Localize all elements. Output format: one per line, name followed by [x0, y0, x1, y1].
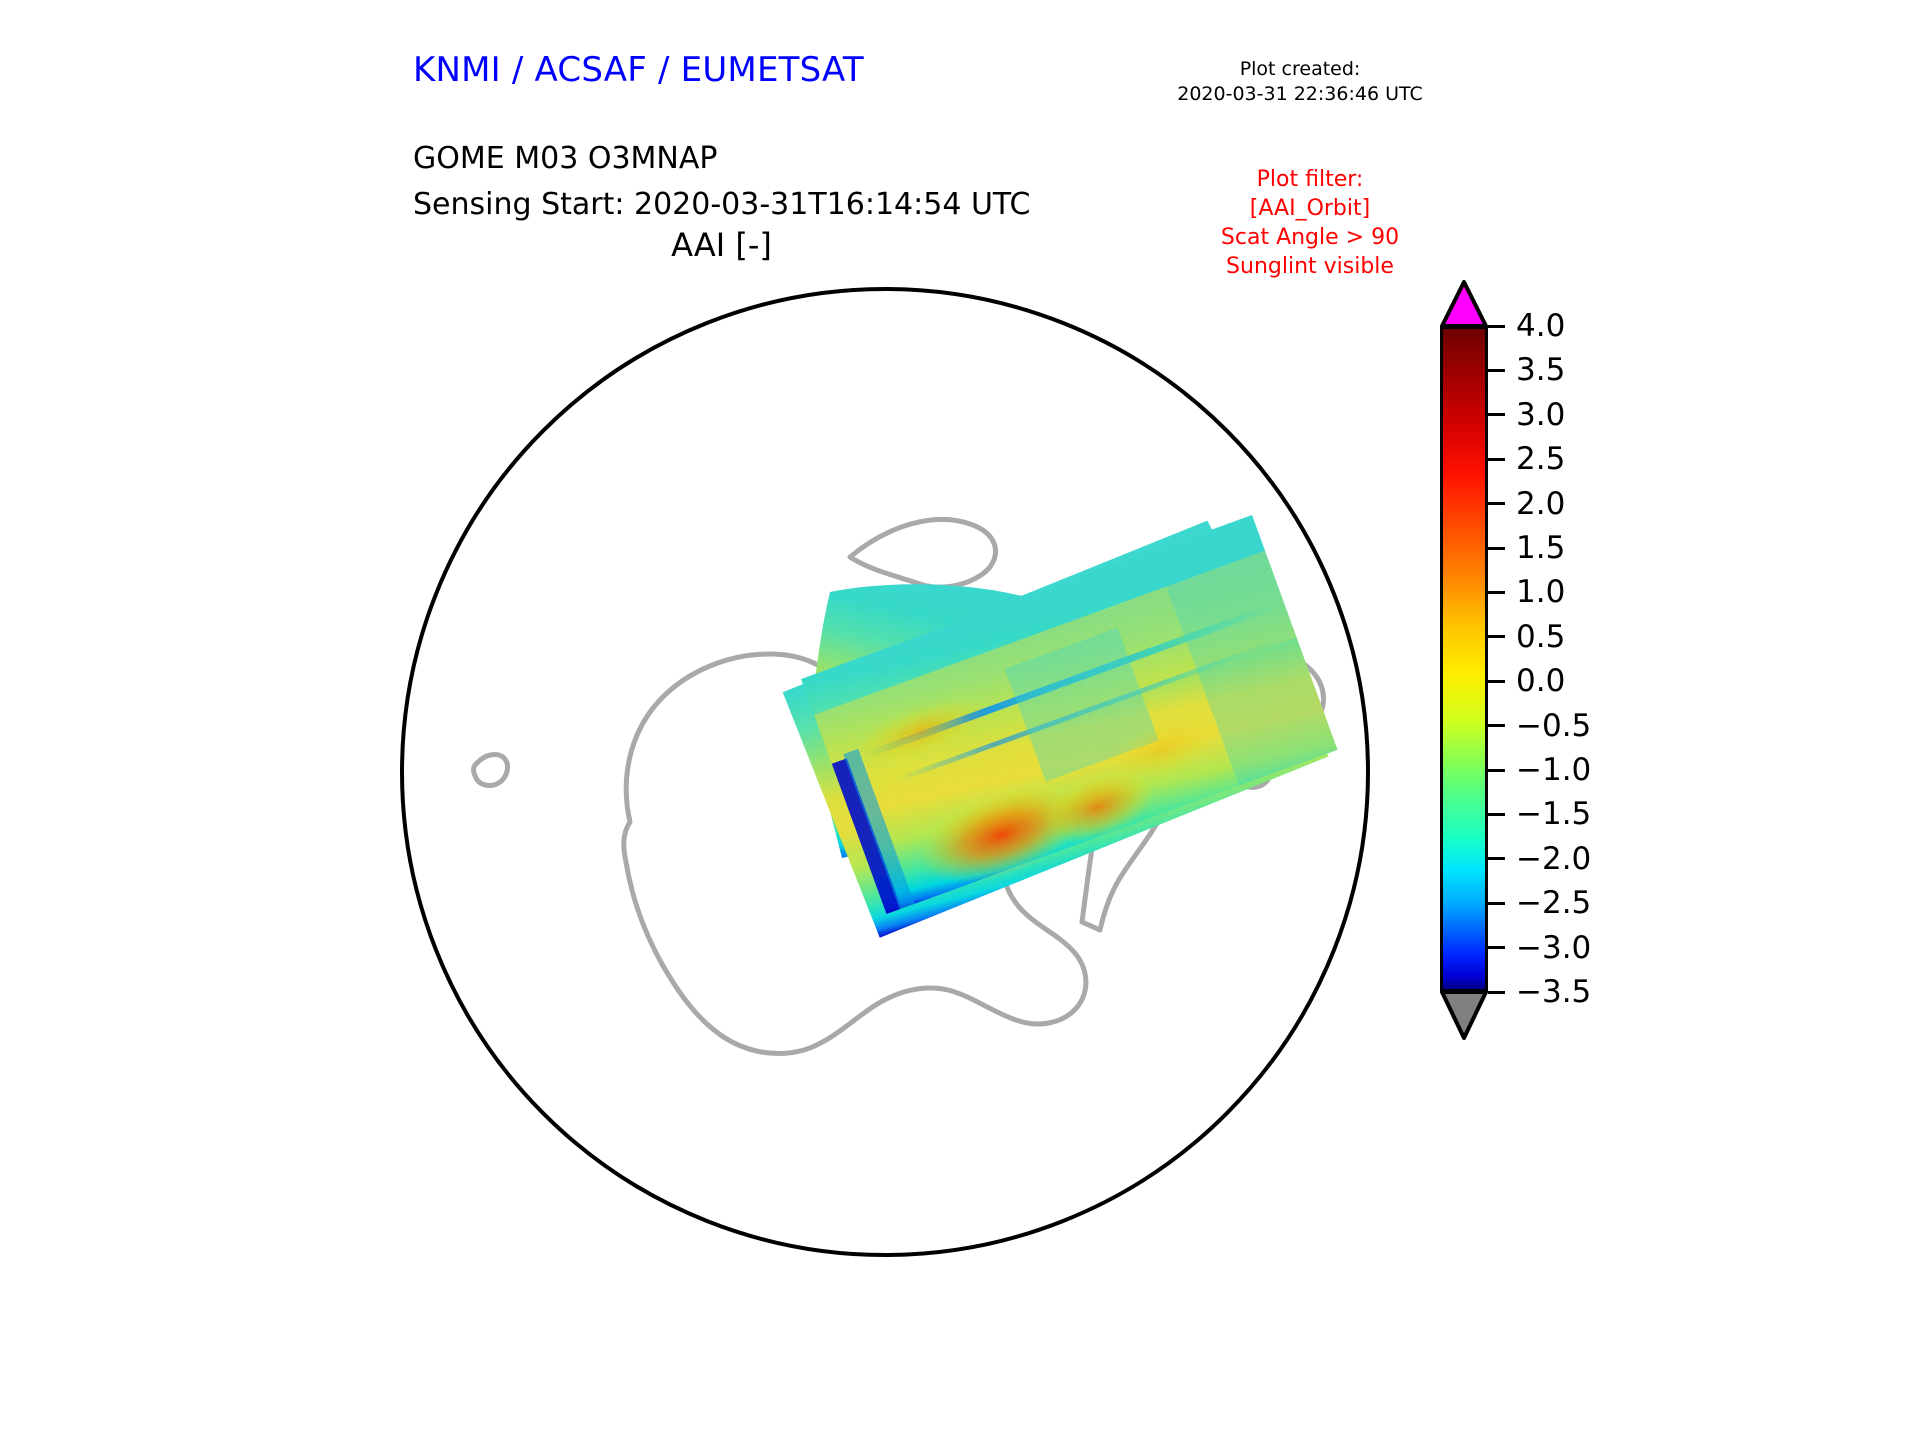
plot-created-timestamp: 2020-03-31 22:36:46 UTC [1150, 82, 1450, 107]
organisation-title: KNMI / ACSAF / EUMETSAT [413, 50, 864, 90]
polar-map [330, 262, 1350, 1282]
colorbar-tick-mark [1488, 946, 1505, 949]
colorbar-tick-mark [1488, 857, 1505, 860]
colorbar-tick-label: 2.0 [1516, 486, 1565, 522]
colorbar-tick-mark [1488, 325, 1505, 328]
instrument-product-line: GOME M03 O3MNAP [413, 136, 1030, 182]
sensing-start-line: Sensing Start: 2020-03-31T16:14:54 UTC [413, 182, 1030, 228]
island-small-left [474, 755, 508, 786]
colorbar-tick-label: 2.5 [1516, 441, 1565, 477]
colorbar-tick-mark [1488, 458, 1505, 461]
colorbar-tick-mark [1488, 547, 1505, 550]
colorbar-tick-mark [1488, 369, 1505, 372]
map-contents [474, 512, 1340, 1054]
colorbar-tick-label: −2.0 [1516, 841, 1591, 877]
colorbar-tick-label: −2.5 [1516, 885, 1591, 921]
colorbar-tick-label: 3.0 [1516, 397, 1565, 433]
colorbar-tick-mark [1488, 413, 1505, 416]
plot-created-block: Plot created: 2020-03-31 22:36:46 UTC [1150, 57, 1450, 107]
colorbar-tick-label: −3.5 [1516, 974, 1591, 1010]
map-graphics [330, 262, 1350, 1282]
colorbar-gradient [1440, 326, 1488, 992]
plot-filter-label: Plot filter: [1150, 165, 1470, 194]
colorbar-tick-label: −3.0 [1516, 930, 1591, 966]
plot-filter-line-1: [AAI_Orbit] [1150, 194, 1470, 223]
colorbar-tick-label: 4.0 [1516, 308, 1565, 344]
colorbar-tick-mark [1488, 902, 1505, 905]
colorbar-tick-mark [1488, 724, 1505, 727]
plot-filter-line-2: Scat Angle > 90 [1150, 223, 1470, 252]
colorbar-tick-label: 0.0 [1516, 663, 1565, 699]
colorbar-tick-mark [1488, 635, 1505, 638]
colorbar-tick-label: 1.5 [1516, 530, 1565, 566]
colorbar-tick-label: 1.0 [1516, 574, 1565, 610]
colorbar-tick-label: −1.0 [1516, 752, 1591, 788]
colorbar: 4.03.53.02.52.01.51.00.50.0−0.5−1.0−1.5−… [1440, 280, 1860, 1070]
antarctica-coastline [850, 519, 996, 587]
dataset-info-block: GOME M03 O3MNAP Sensing Start: 2020-03-3… [413, 136, 1030, 228]
colorbar-tick-label: 3.5 [1516, 352, 1565, 388]
colorbar-tick-label: −1.5 [1516, 796, 1591, 832]
colorbar-tick-mark [1488, 502, 1505, 505]
colorbar-tick-label: 0.5 [1516, 619, 1565, 655]
colorbar-tick-label: −0.5 [1516, 708, 1591, 744]
colorbar-tick-mark [1488, 991, 1505, 994]
colorbar-tick-mark [1488, 813, 1505, 816]
plot-created-label: Plot created: [1150, 57, 1450, 82]
colorbar-over-arrow-icon [1440, 280, 1488, 328]
colorbar-tick-mark [1488, 591, 1505, 594]
colorbar-tick-mark [1488, 769, 1505, 772]
colorbar-under-arrow-icon [1440, 990, 1488, 1040]
colorbar-tick-mark [1488, 680, 1505, 683]
